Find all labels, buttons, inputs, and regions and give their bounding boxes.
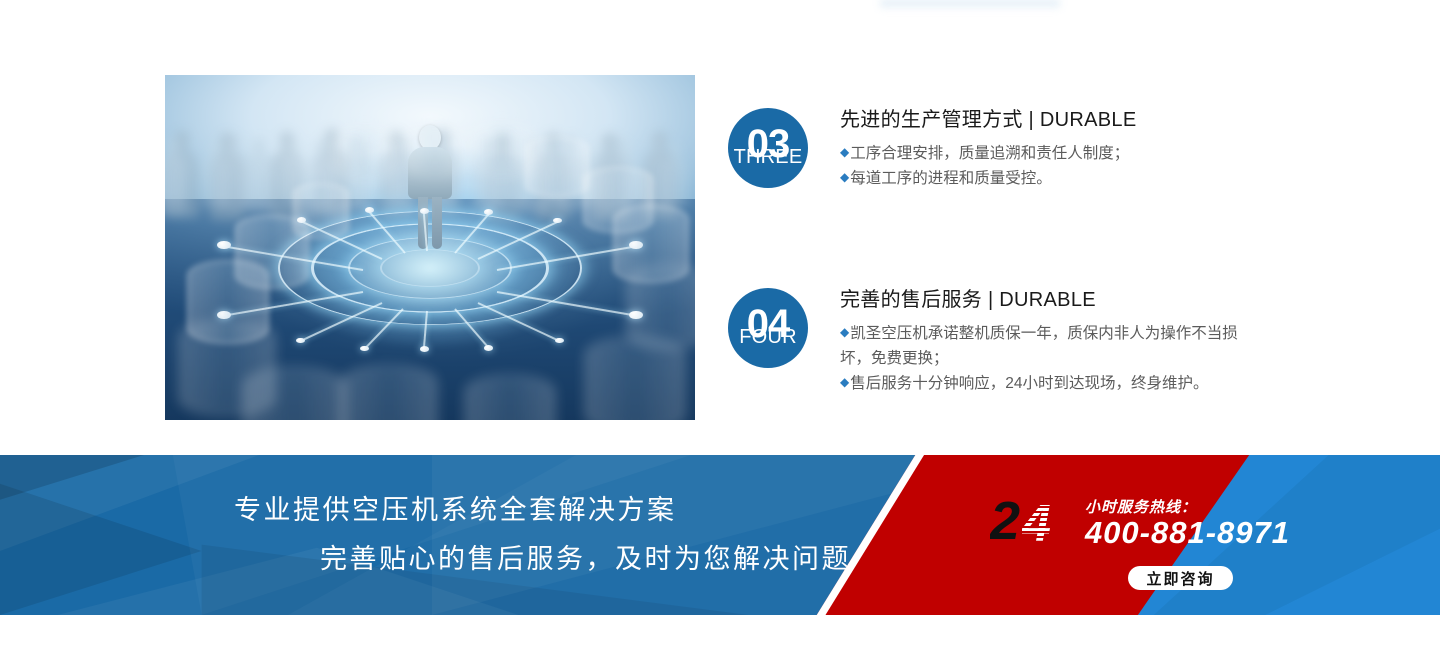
feature-line-item: ◆工序合理安排，质量追溯和责任人制度； — [840, 141, 1136, 166]
hotline-row: 2 4 小时服务热线： 400-881-8971 — [990, 492, 1290, 550]
banner-slogan-line-2: 完善贴心的售后服务，及时为您解决问题 — [320, 546, 930, 573]
hotline-digit-2: 2 — [990, 494, 1020, 548]
cylinder-shape — [341, 365, 437, 420]
banner-slogan-line-1: 专业提供空压机系统全套解决方案 — [234, 497, 930, 524]
connection-node — [296, 338, 305, 344]
diamond-bullet-icon: ◆ — [840, 375, 849, 389]
cylinder-shape — [585, 337, 685, 420]
hero-network-image — [165, 75, 695, 420]
connection-node — [365, 207, 374, 213]
feature-line-text: 售后服务十分钟响应，24小时到达现场，终身维护。 — [850, 375, 1208, 392]
hotline-label: 小时服务热线： — [1085, 500, 1290, 517]
feature-line-text: 工序合理安排，质量追溯和责任人制度； — [850, 145, 1129, 162]
hotline-text-group: 小时服务热线： 400-881-8971 — [1085, 500, 1290, 551]
cylinder-shape — [471, 123, 533, 177]
crowd-person — [165, 138, 185, 212]
figure-leg-right — [432, 197, 442, 249]
feature-line-item: ◆每道工序的进程和质量受控。 — [840, 166, 1136, 191]
feature-lines-04: ◆凯圣空压机承诺整机质保一年，质保内非人为操作不当损坏，免费更换； ◆售后服务十… — [840, 321, 1242, 396]
top-cutoff-ghost — [880, 0, 1060, 10]
feature-line-item: ◆售后服务十分钟响应，24小时到达现场，终身维护。 — [840, 371, 1242, 396]
diamond-bullet-icon: ◆ — [840, 170, 849, 184]
page-root: 03 THREE 先进的生产管理方式 | DURABLE ◆工序合理安排，质量追… — [0, 0, 1440, 663]
connection-node — [360, 346, 369, 352]
crowd-person — [202, 142, 227, 216]
feature-title-04: 完善的售后服务 | DURABLE — [840, 288, 1242, 313]
diamond-bullet-icon: ◆ — [840, 145, 849, 159]
cylinder-shape — [293, 183, 349, 239]
feature-title-03: 先进的生产管理方式 | DURABLE — [840, 108, 1136, 133]
feature-line-item: ◆凯圣空压机承诺整机质保一年，质保内非人为操作不当损坏，免费更换； — [840, 321, 1242, 371]
cylinder-shape — [405, 125, 465, 177]
feature-body-04: 完善的售后服务 | DURABLE ◆凯圣空压机承诺整机质保一年，质保内非人为操… — [840, 288, 1242, 396]
cylinder-shape — [335, 127, 395, 181]
connection-node — [420, 208, 429, 214]
hotline-phone-number[interactable]: 400-881-8971 — [1085, 517, 1290, 548]
consult-now-button[interactable]: 立即咨询 — [1128, 566, 1233, 590]
hotline-digit-4: 4 — [1022, 498, 1051, 550]
cylinder-shape — [243, 367, 345, 420]
diamond-bullet-icon: ◆ — [840, 325, 849, 339]
feature-badge-04: 04 FOUR — [728, 288, 808, 368]
feature-line-text: 每道工序的进程和质量受控。 — [850, 170, 1052, 187]
feature-badge-03: 03 THREE — [728, 108, 808, 188]
banner-slogan-group: 专业提供空压机系统全套解决方案 完善贴心的售后服务，及时为您解决问题 — [0, 455, 930, 615]
connection-node — [420, 346, 429, 352]
feature-lines-03: ◆工序合理安排，质量追溯和责任人制度； ◆每道工序的进程和质量受控。 — [840, 141, 1136, 191]
connection-node — [484, 345, 493, 351]
hotline-block: 2 4 小时服务热线： 400-881-8971 — [990, 492, 1290, 550]
feature-body-03: 先进的生产管理方式 | DURABLE ◆工序合理安排，质量追溯和责任人制度； … — [840, 108, 1136, 191]
feature-line-text: 凯圣空压机承诺整机质保一年，质保内非人为操作不当损坏，免费更换； — [840, 325, 1238, 367]
feature-word-04: FOUR — [739, 327, 796, 347]
cylinder-shape — [465, 375, 555, 420]
feature-word-03: THREE — [734, 147, 803, 167]
cylinder-shape — [525, 137, 589, 197]
hotline-24-logo: 2 4 — [990, 492, 1081, 550]
